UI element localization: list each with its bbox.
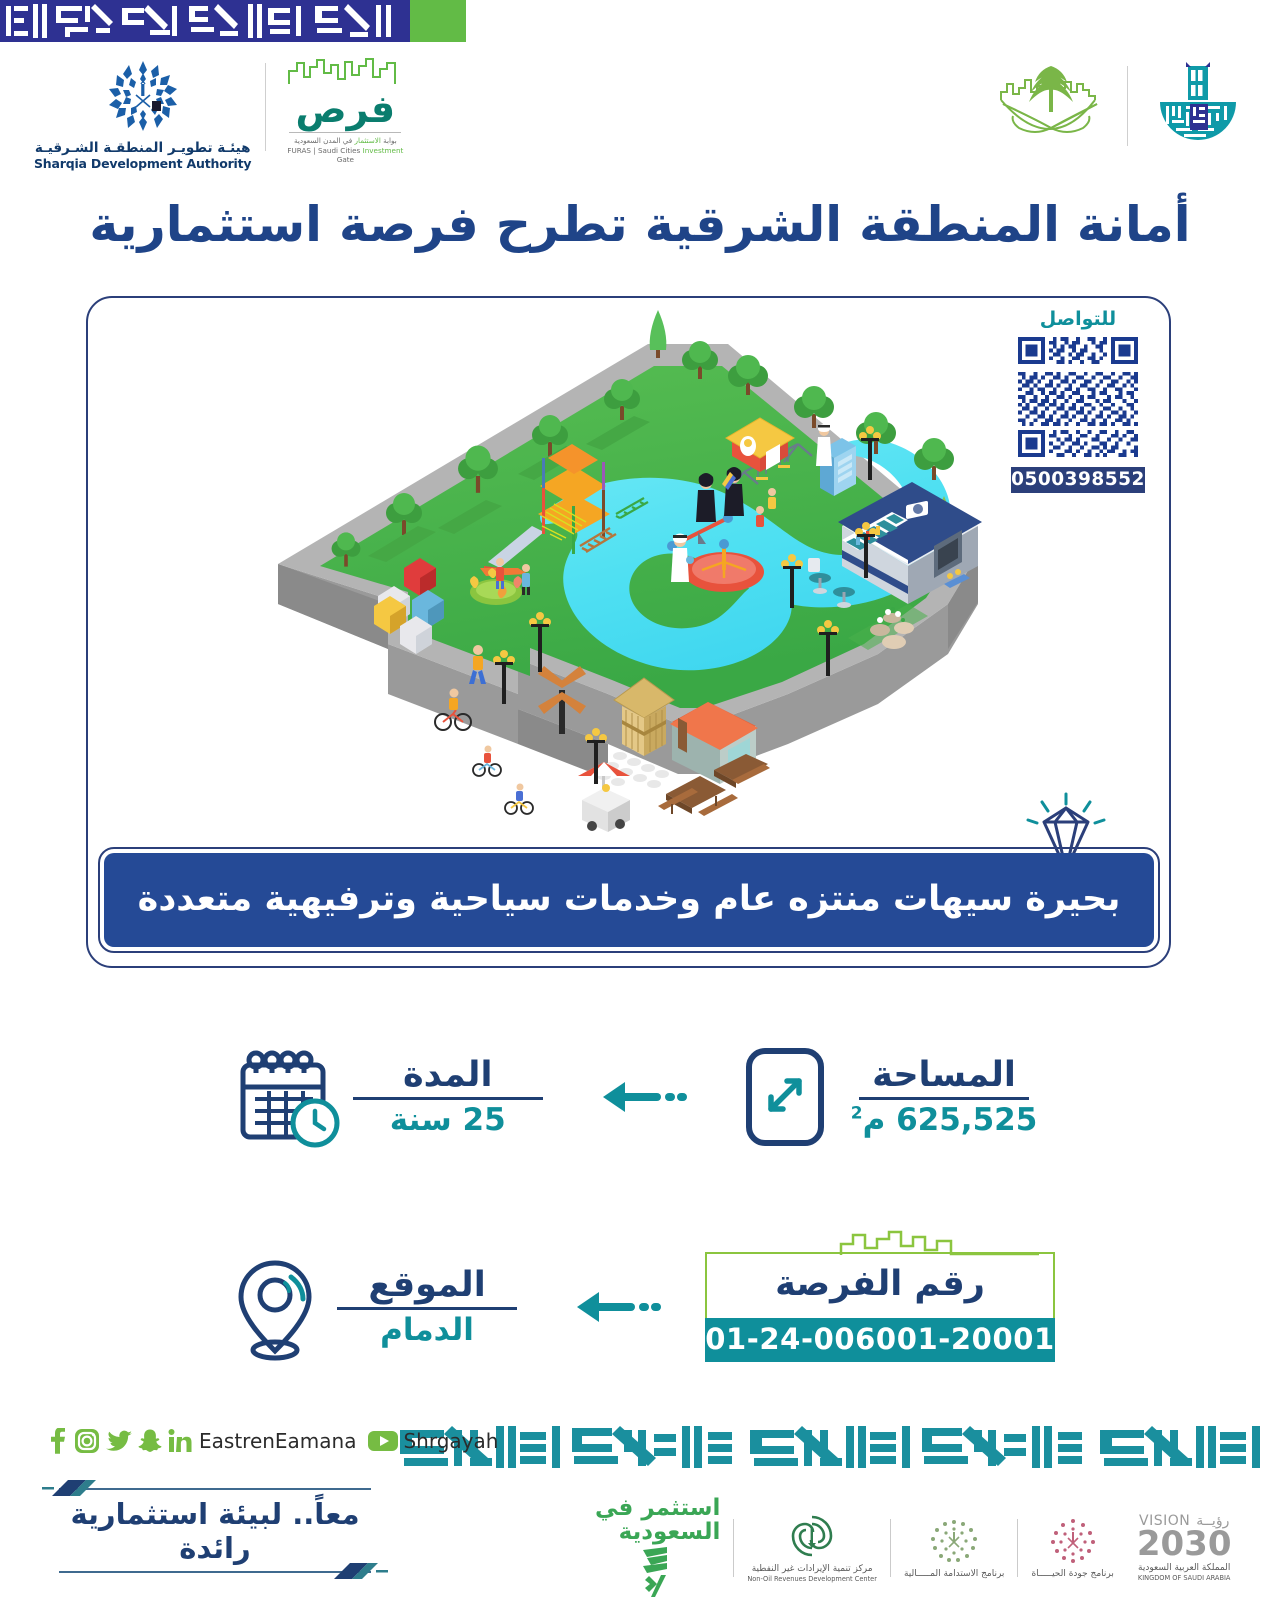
furas-tagline-en: FURAS | Saudi Cities Investment Gate: [280, 146, 410, 165]
footer-tagline-block: معاً.. لبيئة استثمارية رائدة: [40, 1488, 390, 1573]
sda-name-ar: هيئـة تطويـر المنطقـة الشـرقيـة: [34, 140, 251, 156]
non-oil-revenues-icon: [786, 1512, 838, 1560]
furas-tag-en-b: Investment: [363, 146, 404, 155]
furas-tagline-ar: بوابة الاستثمار في المدن السعودية: [280, 136, 410, 146]
furas-tag-b: الاستثمار: [355, 136, 381, 145]
invest-saudi-line2: السعودية: [595, 1520, 720, 1544]
arrow-left-icon: [595, 1074, 691, 1120]
location-label: الموقع: [337, 1267, 517, 1304]
resize-expand-icon: [731, 1043, 839, 1151]
vision-kingdom-en: KINGDOM OF SAUDI ARABIA: [1138, 1574, 1231, 1583]
top-pattern-band: [0, 0, 1280, 42]
furas-tag-a: بوابة: [383, 136, 397, 145]
duration-label: المدة: [353, 1057, 543, 1094]
info-area: المساحة 625,525 م2: [731, 1043, 1050, 1151]
furas-logo: فرص بوابة الاستثمار في المدن السعودية FU…: [280, 57, 410, 165]
quality-name-ar: برنامج جودة الحيـــــاة: [1031, 1568, 1113, 1580]
area-text: المساحة 625,525 م2: [851, 1057, 1038, 1138]
sda-name-en: Sharqia Development Authority: [34, 156, 251, 171]
duration-rule: [353, 1097, 543, 1100]
opportunity-title: رقم الفرصة: [775, 1264, 985, 1308]
green-accent-block: [410, 0, 466, 42]
furas-wordmark: فرص: [280, 90, 410, 128]
footer-tagline: معاً.. لبيئة استثمارية رائدة: [40, 1497, 390, 1565]
city-skyline-icon: [839, 1230, 1039, 1256]
arrow-left-icon-2: [569, 1284, 665, 1330]
youtube-handle[interactable]: Shrgayah: [403, 1429, 498, 1453]
partner-logos: استثمر في السعودية: [586, 1496, 1241, 1600]
ribbon-accent-icon-2: [330, 1561, 388, 1583]
vision-year: 2030: [1137, 1527, 1232, 1561]
twitter-icon[interactable]: [105, 1428, 133, 1454]
poster-root: فرص بوابة الاستثمار في المدن السعودية FU…: [0, 0, 1280, 1600]
tagline-line-bottom: [59, 1571, 371, 1573]
opportunity-frame: رقم الفرصة: [705, 1252, 1055, 1318]
header-right-divider: [1127, 66, 1128, 146]
location-value: الدمام: [337, 1313, 517, 1347]
instagram-icon[interactable]: [73, 1428, 101, 1454]
invest-saudi-icon: [637, 1544, 673, 1600]
info-location: الموقع الدمام: [225, 1253, 529, 1361]
furas-divider: [289, 132, 401, 133]
furas-tag-en-c: Gate: [337, 155, 354, 164]
tagline-line-top: [59, 1488, 371, 1490]
area-label: المساحة: [851, 1057, 1038, 1094]
info-row-2: رقم الفرصة 01-24-006001-20001 الموقع الد…: [0, 1232, 1280, 1382]
partner-vision-2030: رؤيــة VISION 2030 المملكة العربية السعو…: [1123, 1513, 1241, 1583]
facebook-icon[interactable]: [46, 1428, 68, 1454]
ribbon-accent-icon: [42, 1478, 100, 1500]
social-handle[interactable]: EastrenEamana: [199, 1429, 356, 1453]
invest-saudi-line1: استثمر في: [595, 1496, 720, 1520]
location-text: الموقع الدمام: [337, 1267, 517, 1348]
partner-non-oil-revenues: مركز تنمية الإيرادات غير النفطية Non-Oil…: [738, 1512, 886, 1584]
calendar-clock-icon: [231, 1043, 341, 1151]
snapchat-icon[interactable]: [137, 1428, 163, 1454]
furas-tag-c: في المدن السعودية: [294, 136, 352, 145]
area-value-sup: 2: [851, 1104, 863, 1124]
area-rule: [859, 1097, 1029, 1100]
fiscal-name-ar: برنامج الاستدامة المـــــالية: [904, 1568, 1005, 1580]
skyline-icon: [285, 57, 405, 85]
opportunity-number: 01-24-006001-20001: [705, 1318, 1055, 1362]
partner-fiscal-sustainability: برنامج الاستدامة المـــــالية: [895, 1517, 1014, 1580]
kingdom-of-saudi-arabia-emblem-icon: [997, 62, 1105, 150]
vision-kingdom-ar: المملكة العربية السعودية: [1138, 1562, 1230, 1574]
info-duration: المدة 25 سنة: [231, 1043, 555, 1151]
invest-saudi-text: استثمر في السعودية: [595, 1496, 720, 1544]
header-left-logos: فرص بوابة الاستثمار في المدن السعودية FU…: [34, 57, 410, 171]
header-divider: [265, 63, 266, 151]
social-links: EastrenEamana Shrgayah: [46, 1428, 498, 1454]
furas-tag-en-a: FURAS | Saudi Cities: [287, 146, 360, 155]
quality-of-life-icon: [1049, 1517, 1097, 1565]
duration-text: المدة 25 سنة: [353, 1057, 543, 1138]
fiscal-sustainability-icon: [930, 1517, 978, 1565]
banner-text: بحيرة سيهات منتزه عام وخدمات سياحية وترف…: [104, 853, 1154, 947]
header: فرص بوابة الاستثمار في المدن السعودية FU…: [0, 52, 1280, 172]
non-oil-name-ar: مركز تنمية الإيرادات غير النفطية: [752, 1563, 873, 1575]
partner-divider-1: [733, 1519, 734, 1577]
page-title: أمانة المنطقة الشرقية تطرح فرصة استثماري…: [0, 196, 1280, 253]
location-rule: [337, 1307, 517, 1310]
info-row-1: المساحة 625,525 م2: [0, 1022, 1280, 1172]
partner-quality-of-life: برنامج جودة الحيـــــاة: [1022, 1517, 1122, 1580]
sihat-lake-park-illustration: [88, 304, 1173, 864]
kufic-pattern-top: [0, 0, 410, 42]
opportunity-number-block: رقم الفرصة 01-24-006001-20001: [705, 1252, 1055, 1362]
sda-emblem-icon: [106, 59, 180, 133]
eastern-province-municipality-logo-icon: [1150, 60, 1246, 152]
partner-divider-3: [1017, 1519, 1018, 1577]
area-value: 625,525 م2: [851, 1103, 1038, 1137]
sharqia-development-authority-logo: هيئـة تطويـر المنطقـة الشـرقيـة Sharqia …: [34, 57, 251, 171]
partner-invest-saudi: استثمر في السعودية: [586, 1496, 729, 1600]
footer-pattern-band: [396, 1420, 1280, 1472]
location-pin-icon: [225, 1253, 325, 1361]
headline-banner: بحيرة سيهات منتزه عام وخدمات سياحية وترف…: [98, 847, 1160, 953]
linkedin-icon[interactable]: [167, 1428, 193, 1454]
area-value-text: 625,525 م: [863, 1102, 1038, 1138]
non-oil-name-en: Non-Oil Revenues Development Center: [747, 1575, 877, 1584]
youtube-icon[interactable]: [368, 1430, 398, 1452]
header-right-logos: [997, 60, 1246, 152]
partner-divider-2: [890, 1519, 891, 1577]
kufic-pattern-footer: [396, 1420, 1280, 1472]
duration-value: 25 سنة: [353, 1103, 543, 1137]
